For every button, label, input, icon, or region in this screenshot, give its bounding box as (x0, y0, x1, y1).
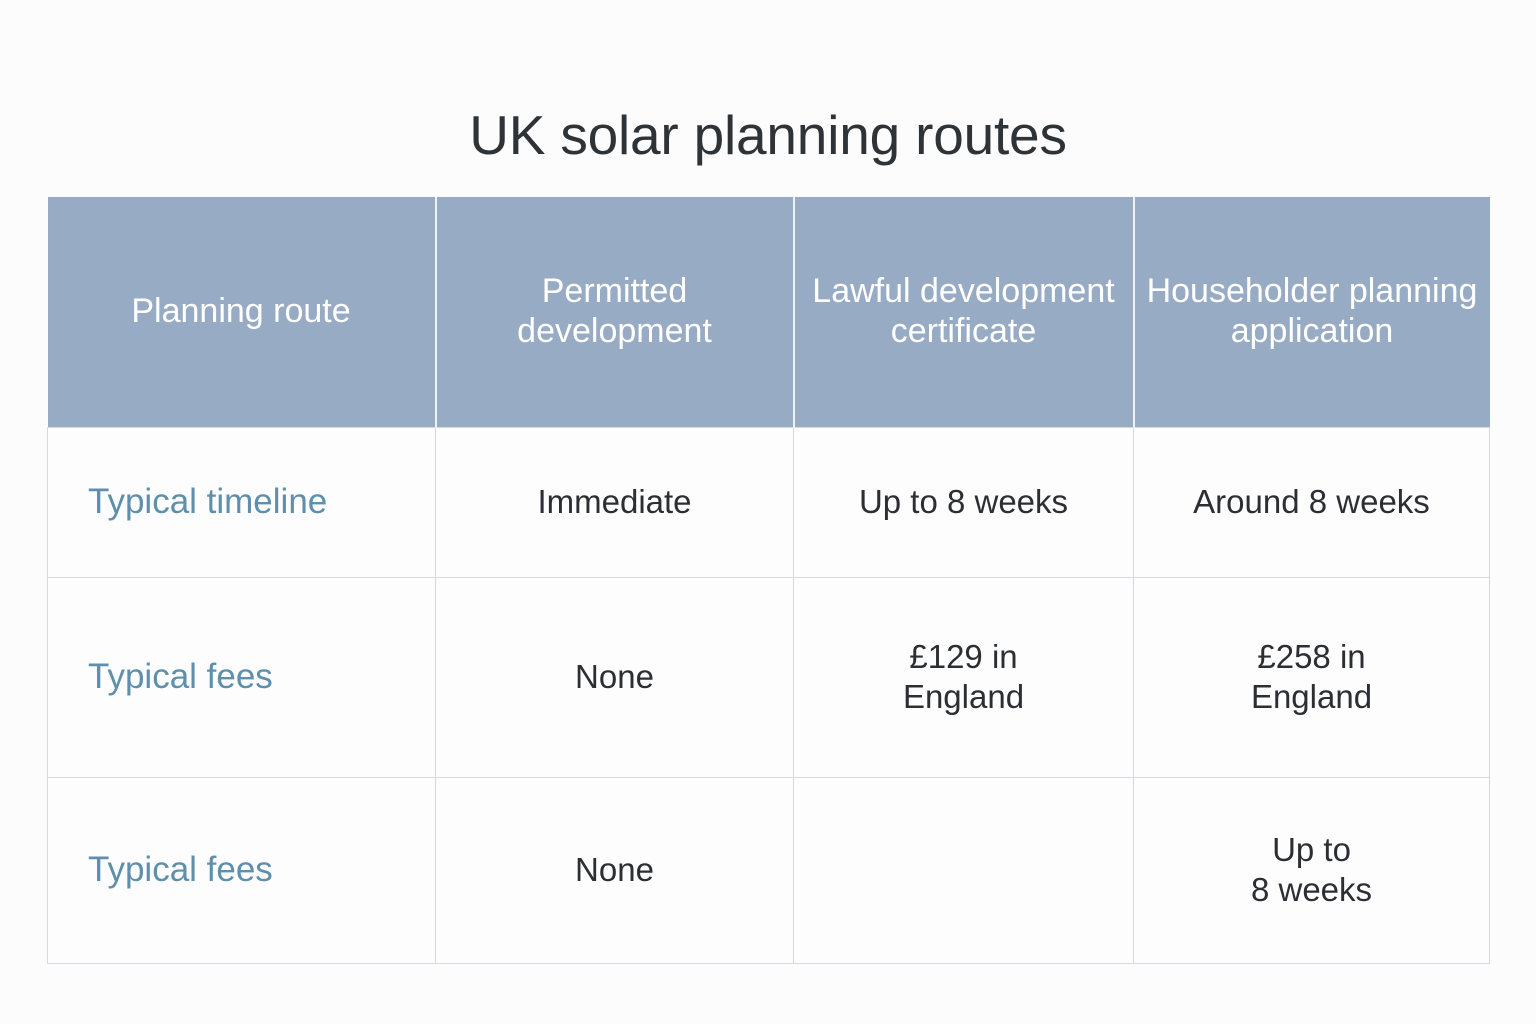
table-row: Typical fees None £129 in England £258 i… (48, 577, 1490, 777)
cell-line: None (448, 657, 781, 697)
page-title: UK solar planning routes (0, 103, 1536, 167)
row-label: Typical timeline (48, 427, 436, 577)
table-row: Typical timeline Immediate Up to 8 weeks… (48, 427, 1490, 577)
cell-line: Around 8 weeks (1146, 482, 1477, 522)
cell-line: £129 in (806, 637, 1121, 677)
cell-line: Up to (1146, 830, 1477, 870)
table-body: Typical timeline Immediate Up to 8 weeks… (48, 427, 1490, 963)
row-label: Typical fees (48, 577, 436, 777)
table-cell: Immediate (436, 427, 794, 577)
table-cell-empty (794, 777, 1134, 963)
table-cell: None (436, 777, 794, 963)
row-label: Typical fees (48, 777, 436, 963)
cell-line: None (448, 850, 781, 890)
cell-line: £258 in (1146, 637, 1477, 677)
cell-line: England (1146, 677, 1477, 717)
planning-routes-table-wrapper: Planning route Permitted development Law… (47, 197, 1489, 964)
column-header-planning-route: Planning route (48, 197, 436, 427)
cell-line: Immediate (448, 482, 781, 522)
planning-routes-table: Planning route Permitted development Law… (47, 197, 1490, 964)
cell-line: Up to 8 weeks (806, 482, 1121, 522)
table-header-row: Planning route Permitted development Law… (48, 197, 1490, 427)
table-header: Planning route Permitted development Law… (48, 197, 1490, 427)
table-cell: Up to 8 weeks (1134, 777, 1490, 963)
table-cell: None (436, 577, 794, 777)
cell-line: 8 weeks (1146, 870, 1477, 910)
cell-line: England (806, 677, 1121, 717)
column-header-permitted-development: Permitted development (436, 197, 794, 427)
column-header-householder-planning-application: Householder planning application (1134, 197, 1490, 427)
column-header-lawful-development-certificate: Lawful development certificate (794, 197, 1134, 427)
table-cell: £129 in England (794, 577, 1134, 777)
page-root: UK solar planning routes Planning route … (0, 0, 1536, 1024)
table-row: Typical fees None Up to 8 weeks (48, 777, 1490, 963)
table-cell: Up to 8 weeks (794, 427, 1134, 577)
table-cell: Around 8 weeks (1134, 427, 1490, 577)
table-cell: £258 in England (1134, 577, 1490, 777)
